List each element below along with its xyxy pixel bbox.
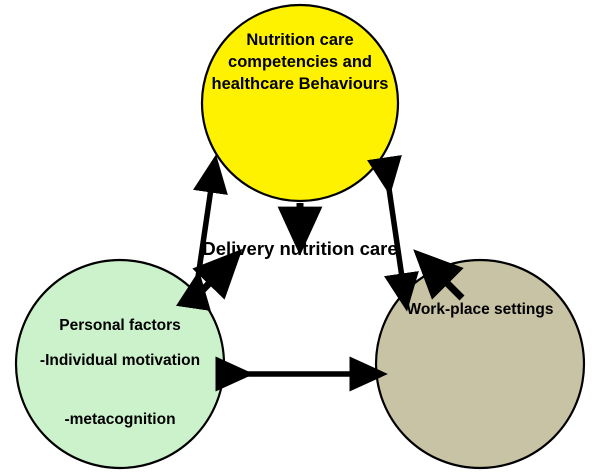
arrow-top-right — [387, 175, 404, 291]
diagram-svg — [0, 0, 600, 476]
diagram-canvas: Nutrition care competencies and healthca… — [0, 0, 600, 476]
node-circle-left[interactable] — [16, 260, 224, 468]
arrow-top-left — [196, 175, 213, 291]
node-circle-top[interactable] — [202, 5, 398, 201]
node-circle-right[interactable] — [376, 260, 584, 468]
